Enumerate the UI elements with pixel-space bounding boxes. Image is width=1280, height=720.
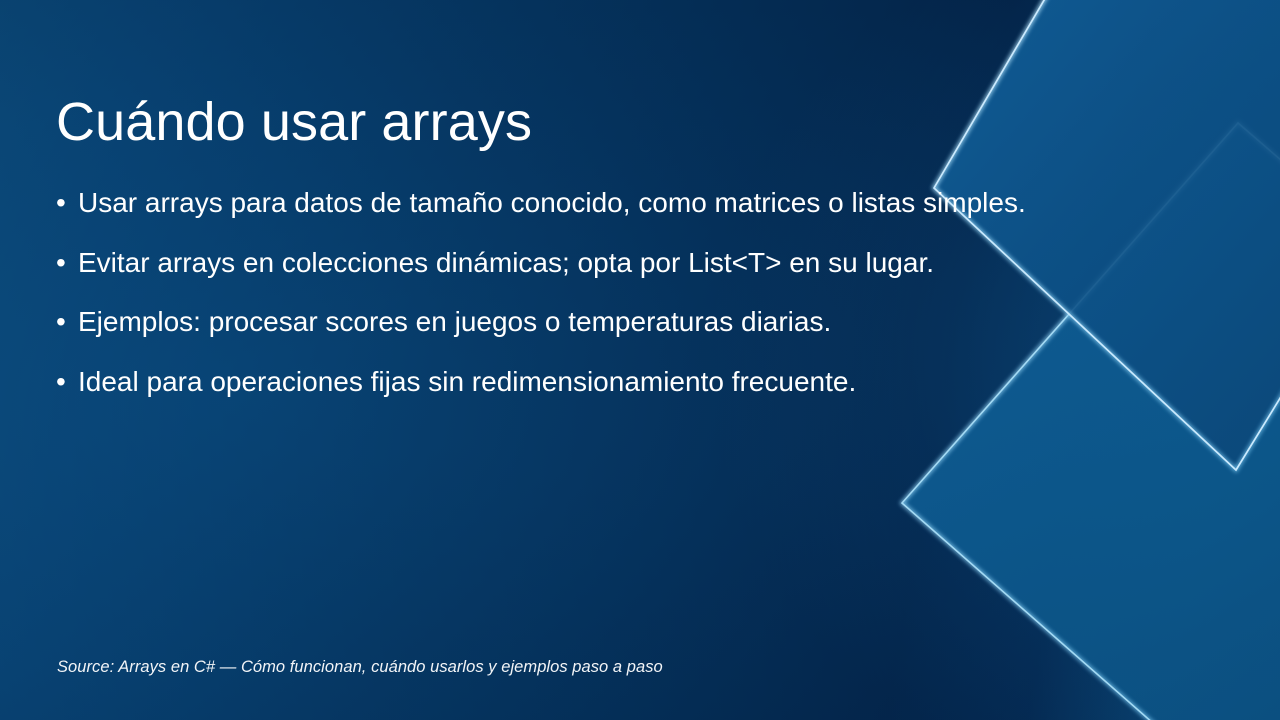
list-item-text: Ejemplos: procesar scores en juegos o te… — [78, 305, 831, 339]
bullet-marker-icon: • — [56, 365, 78, 399]
list-item: • Ejemplos: procesar scores en juegos o … — [56, 305, 1236, 339]
list-item: • Usar arrays para datos de tamaño conoc… — [56, 186, 1236, 220]
page-title: Cuándo usar arrays — [56, 92, 1056, 152]
list-item: • Ideal para operaciones fijas sin redim… — [56, 365, 1236, 399]
list-item: • Evitar arrays en colecciones dinámicas… — [56, 246, 1236, 280]
bullet-marker-icon: • — [56, 246, 78, 280]
list-item-text: Ideal para operaciones fijas sin redimen… — [78, 365, 856, 399]
list-item-text: Evitar arrays en colecciones dinámicas; … — [78, 246, 934, 280]
slide-canvas: Cuándo usar arrays • Usar arrays para da… — [0, 0, 1280, 720]
bullet-marker-icon: • — [56, 305, 78, 339]
bullet-list: • Usar arrays para datos de tamaño conoc… — [56, 186, 1236, 424]
source-attribution: Source: Arrays en C# — Cómo funcionan, c… — [57, 658, 663, 677]
bullet-marker-icon: • — [56, 186, 78, 220]
list-item-text: Usar arrays para datos de tamaño conocid… — [78, 186, 1026, 220]
